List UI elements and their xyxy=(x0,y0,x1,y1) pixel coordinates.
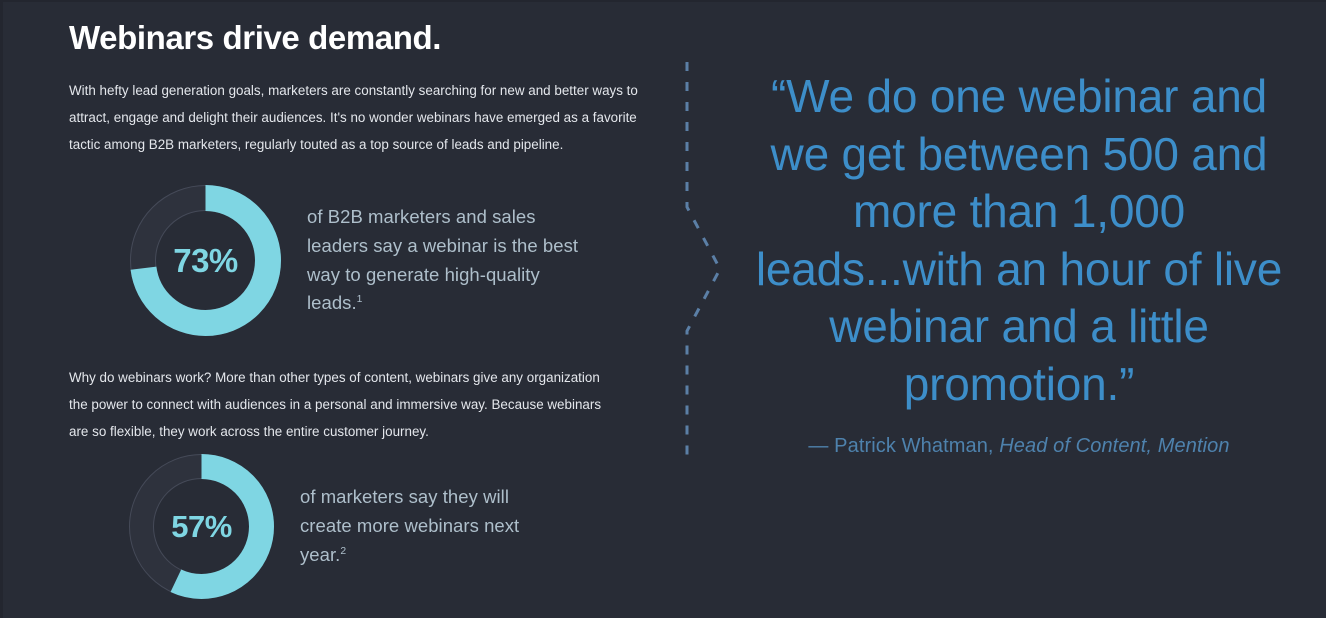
quote-attribution: — Patrick Whatman, Head of Content, Ment… xyxy=(739,435,1299,458)
donut-value-label-73: 73% xyxy=(130,185,281,336)
page-title: Webinars drive demand. xyxy=(69,20,649,56)
attribution-role: Head of Content, Mention xyxy=(994,435,1230,457)
stat-block-57: 57% of marketers say they will create mo… xyxy=(129,454,530,599)
pull-quote-block: “We do one webinar and we get between 50… xyxy=(739,68,1299,458)
stat-caption-57: of marketers say they will create more w… xyxy=(300,483,530,569)
stat-block-73: 73% of B2B marketers and sales leaders s… xyxy=(130,185,582,336)
attribution-dash: — xyxy=(808,435,834,457)
left-content-column: Webinars drive demand. With hefty lead g… xyxy=(69,20,649,159)
donut-progress-icon-73: 73% xyxy=(130,185,281,336)
middle-paragraph: Why do webinars work? More than other ty… xyxy=(69,365,609,445)
intro-paragraph: With hefty lead generation goals, market… xyxy=(69,78,649,158)
stat-caption-text-57: of marketers say they will create more w… xyxy=(300,486,519,564)
stat-caption-text-73: of B2B marketers and sales leaders say a… xyxy=(307,206,578,313)
stat-footnote-marker-57: 2 xyxy=(340,546,346,557)
donut-progress-icon-57: 57% xyxy=(129,454,274,599)
infographic-page: Webinars drive demand. With hefty lead g… xyxy=(0,0,1326,618)
stat-footnote-marker-73: 1 xyxy=(357,294,363,305)
pull-quote-text: “We do one webinar and we get between 50… xyxy=(739,68,1299,413)
stat-caption-73: of B2B marketers and sales leaders say a… xyxy=(307,203,582,318)
attribution-name: Patrick Whatman, xyxy=(834,435,993,457)
middle-paragraph-wrap: Why do webinars work? More than other ty… xyxy=(69,365,649,445)
dashed-chevron-divider-icon xyxy=(663,62,733,467)
donut-value-label-57: 57% xyxy=(129,454,274,599)
